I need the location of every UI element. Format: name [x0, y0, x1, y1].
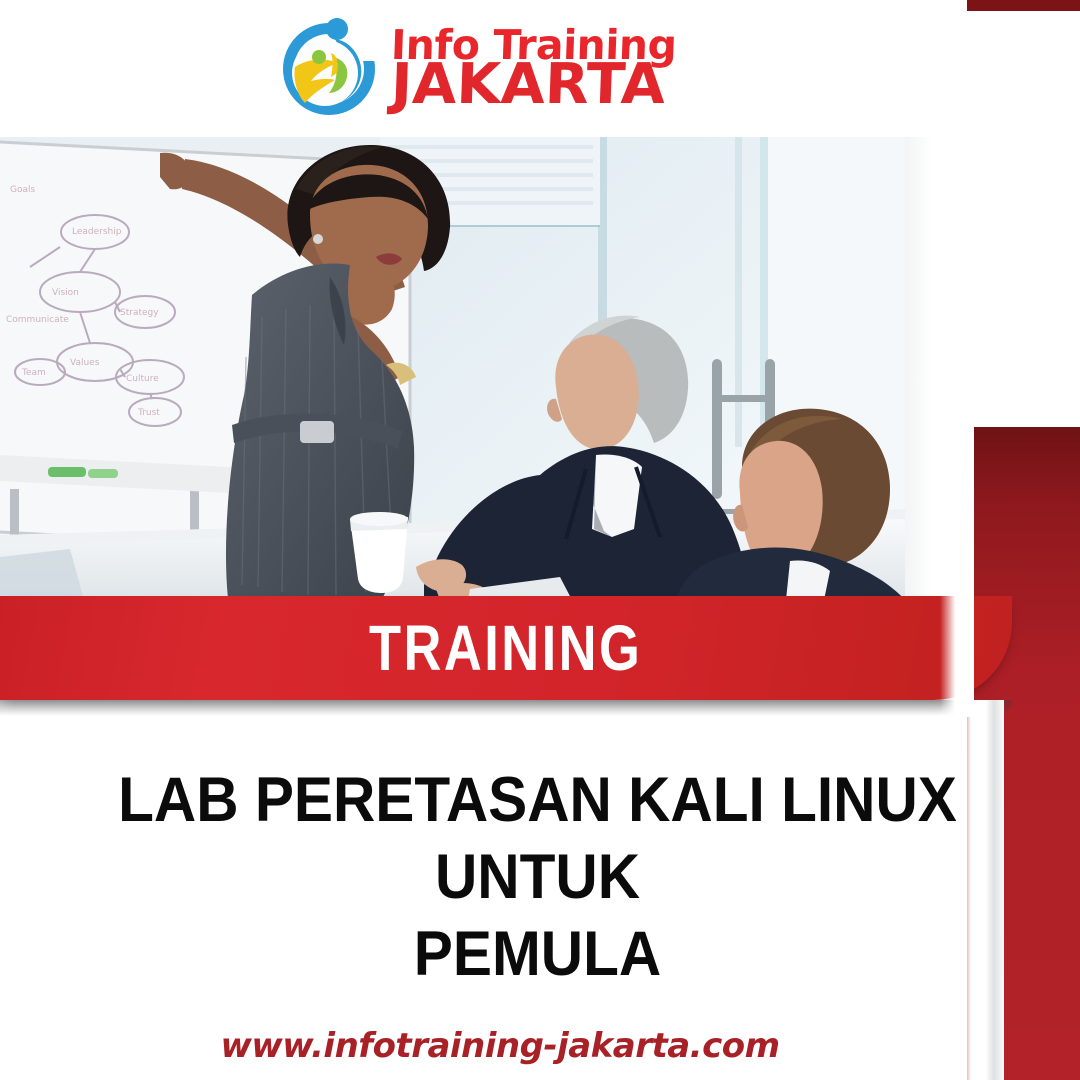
svg-text:Team: Team — [21, 368, 46, 378]
svg-text:Communicate: Communicate — [6, 315, 69, 325]
poster-canvas: Info Training JAKARTA — [0, 0, 1080, 1080]
svg-text:Leadership: Leadership — [72, 227, 122, 237]
svg-text:Culture: Culture — [126, 374, 159, 384]
page-title-line-1: LAB PERETASAN KALI LINUX UNTUK — [56, 762, 1019, 916]
svg-text:Goals: Goals — [10, 185, 35, 195]
right-band-top-accent — [967, 0, 1080, 11]
svg-text:Vision: Vision — [52, 288, 79, 298]
training-banner-shadow — [0, 700, 1012, 716]
business-training-meeting-photo: Leadership Vision Strategy Values Team C… — [0, 137, 905, 600]
svg-text:Trust: Trust — [137, 408, 160, 418]
website-url[interactable]: www.infotraining-jakarta.com — [0, 1026, 1000, 1066]
brand-line-2: JAKARTA — [390, 61, 683, 109]
training-banner: TRAINING — [0, 596, 1012, 700]
brand-wordmark: Info Training JAKARTA — [391, 28, 676, 109]
sheet-edge-upper — [940, 427, 974, 717]
it-circle-logo-icon — [275, 15, 383, 123]
header: Info Training JAKARTA — [0, 0, 967, 137]
page-title-line-2: PEMULA — [56, 916, 1019, 993]
page-title: LAB PERETASAN KALI LINUX UNTUK PEMULA — [56, 762, 1019, 993]
svg-text:Strategy: Strategy — [120, 308, 159, 318]
brand-logo[interactable]: Info Training JAKARTA — [275, 15, 676, 123]
svg-text:Values: Values — [70, 358, 100, 368]
training-banner-label: TRAINING — [369, 611, 642, 685]
